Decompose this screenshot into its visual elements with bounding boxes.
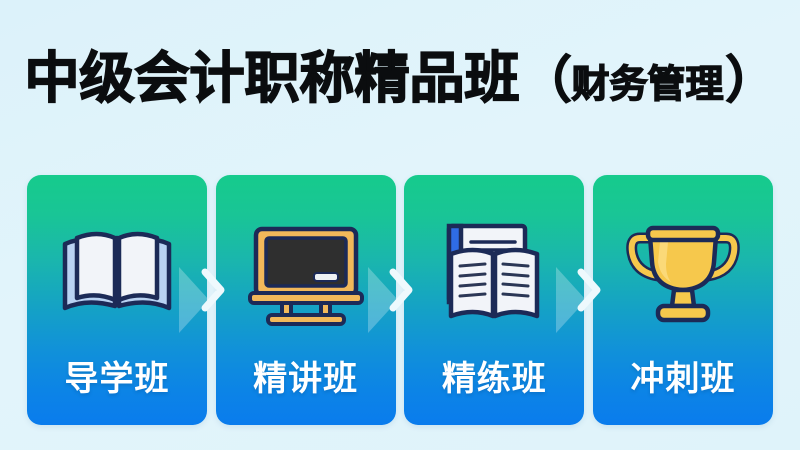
chevron-right-icon (200, 268, 226, 312)
step-card-daoxueban[interactable]: 导学班 (27, 175, 207, 425)
trophy-icon (593, 209, 773, 339)
step-card-label: 精讲班 (216, 351, 396, 400)
title-paren-open: （ (522, 50, 572, 110)
chevron-right-icon (388, 268, 414, 312)
blackboard-icon (216, 209, 396, 339)
page-title: 中级会计职称精品班 （ 财务管理 ） (0, 48, 800, 115)
poster-root: 中级会计职称精品班 （ 财务管理 ） 导学班 (0, 0, 800, 450)
open-book-icon (27, 209, 207, 339)
title-paren-close: ） (726, 50, 776, 110)
step-card-jingjiangban[interactable]: 精讲班 (216, 175, 396, 425)
chevron-right-icon (576, 268, 602, 312)
step-card-jinglianban[interactable]: 精练班 (404, 175, 584, 425)
workbook-icon (404, 209, 584, 339)
step-card-label: 精练班 (404, 351, 584, 400)
title-subject-text: 财务管理 (572, 55, 724, 115)
title-main-text: 中级会计职称精品班 (24, 48, 519, 108)
step-card-chongciban[interactable]: 冲刺班 (593, 175, 773, 425)
step-card-label: 冲刺班 (593, 351, 773, 400)
step-card-label: 导学班 (27, 351, 207, 400)
